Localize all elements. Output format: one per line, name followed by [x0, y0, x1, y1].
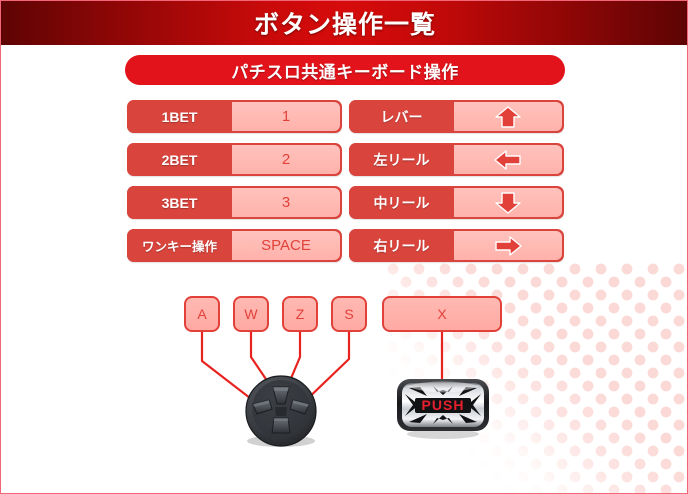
keycap-label: W	[244, 306, 257, 322]
table-row-1bet[interactable]: 1BET 1	[127, 100, 342, 133]
row-value	[454, 188, 562, 217]
table-row-2bet[interactable]: 2BET 2	[127, 143, 342, 176]
page-header: ボタン操作一覧	[0, 0, 688, 45]
table-row-center-reel[interactable]: 中リール	[349, 186, 564, 219]
arrow-right-icon	[454, 231, 562, 260]
keycap-z[interactable]: Z	[282, 296, 318, 332]
table-row-onekey[interactable]: ワンキー操作 SPACE	[127, 229, 342, 262]
row-label: 1BET	[127, 100, 232, 133]
row-label: 2BET	[127, 143, 232, 176]
row-label: 3BET	[127, 186, 232, 219]
row-value: SPACE	[232, 231, 340, 260]
table-row-lever[interactable]: レバー	[349, 100, 564, 133]
stop-button-cluster-icon	[233, 371, 329, 449]
keycap-a[interactable]: A	[184, 296, 220, 332]
keycap-w[interactable]: W	[233, 296, 269, 332]
table-row-right-reel[interactable]: 右リール	[349, 229, 564, 262]
row-label: 右リール	[349, 229, 454, 262]
arrow-up-icon	[454, 102, 562, 131]
row-label: ワンキー操作	[127, 229, 232, 262]
page-title: ボタン操作一覧	[254, 5, 436, 41]
arrow-left-icon	[454, 145, 562, 174]
row-label: 左リール	[349, 143, 454, 176]
push-button-text: PUSH	[422, 397, 465, 413]
row-label: 中リール	[349, 186, 454, 219]
page-root: ボタン操作一覧 パチスロ共通キーボード操作 1BET 1 2BET 2 3BET…	[0, 0, 688, 494]
subtitle-text: パチスロ共通キーボード操作	[231, 58, 459, 83]
keycap-label: S	[344, 306, 353, 322]
row-value	[454, 231, 562, 260]
row-value: 3	[232, 188, 340, 217]
keycap-s[interactable]: S	[331, 296, 367, 332]
table-row-left-reel[interactable]: 左リール	[349, 143, 564, 176]
keycap-label: X	[437, 306, 446, 322]
keycap-label: A	[197, 306, 206, 322]
subtitle-banner: パチスロ共通キーボード操作	[125, 55, 565, 85]
row-value	[454, 145, 562, 174]
row-label: レバー	[349, 100, 454, 133]
push-button-icon: PUSH	[393, 374, 493, 440]
keycap-label: Z	[296, 306, 305, 322]
row-value	[454, 102, 562, 131]
row-value: 2	[232, 145, 340, 174]
arrow-down-icon	[454, 188, 562, 217]
row-value: 1	[232, 102, 340, 131]
keycap-x[interactable]: X	[382, 296, 502, 332]
table-row-3bet[interactable]: 3BET 3	[127, 186, 342, 219]
